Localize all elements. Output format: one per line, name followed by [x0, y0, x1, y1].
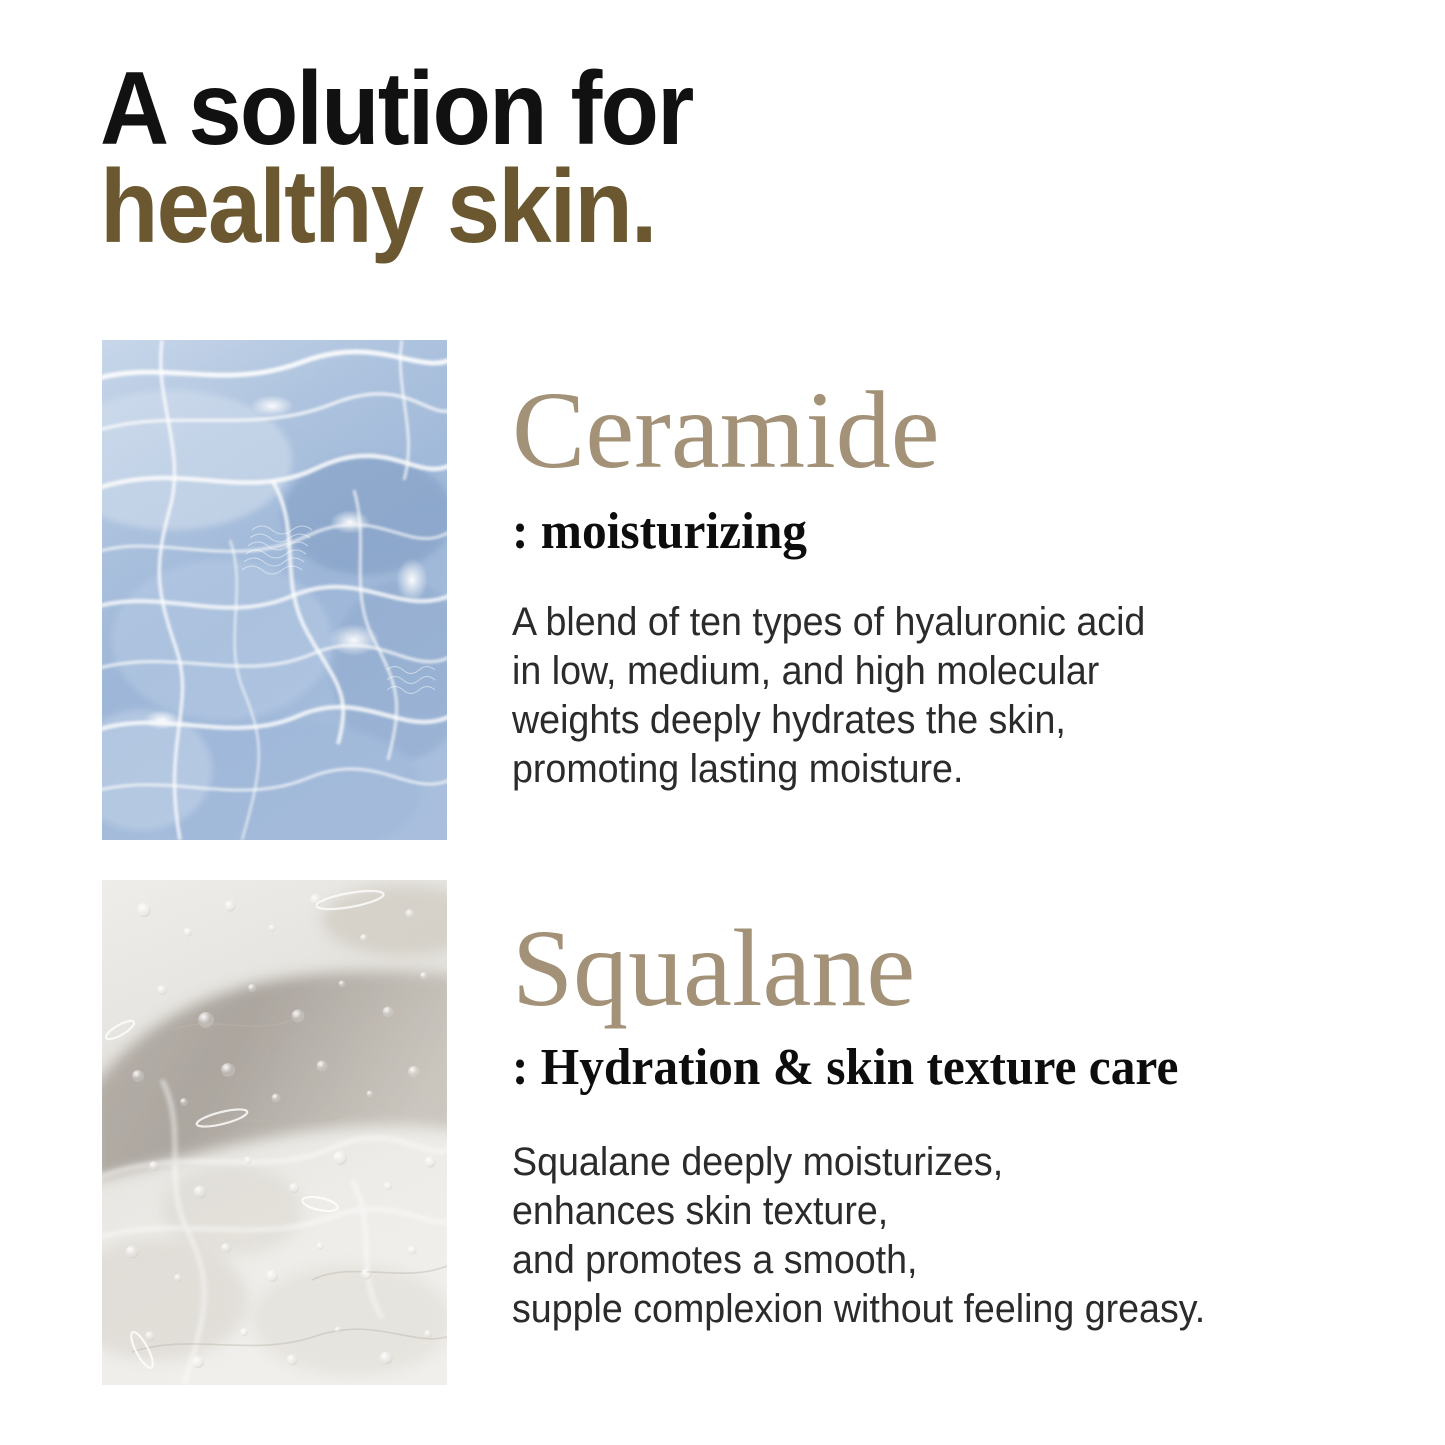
ingredient-title-squalane: Squalane [512, 912, 1412, 1024]
ingredient-image-squalane [102, 880, 447, 1385]
ingredient-text-squalane: Squalane : Hydration & skin texture care… [512, 880, 1412, 1334]
ingredient-description-ceramide: A blend of ten types of hyaluronic acid … [512, 598, 1358, 794]
ingredient-subtitle-squalane: : Hydration & skin texture care [512, 1038, 1367, 1098]
blue-water-texture [102, 340, 447, 840]
ingredient-description-squalane: Squalane deeply moisturizes, enhances sk… [512, 1138, 1358, 1334]
ingredient-subtitle-ceramide: : moisturizing [512, 502, 1367, 562]
promo-graphic-page: A solution for healthy skin. [0, 0, 1445, 1445]
ingredient-text-ceramide: Ceramide : moisturizing A blend of ten t… [512, 340, 1412, 794]
page-title: A solution for healthy skin. [100, 60, 1100, 256]
headline-line-2: healthy skin. [100, 158, 1020, 256]
ingredient-image-ceramide [102, 340, 447, 840]
ingredient-title-ceramide: Ceramide [512, 374, 1412, 486]
headline-line-1: A solution for [100, 60, 1020, 158]
cream-gel-texture [102, 880, 447, 1385]
